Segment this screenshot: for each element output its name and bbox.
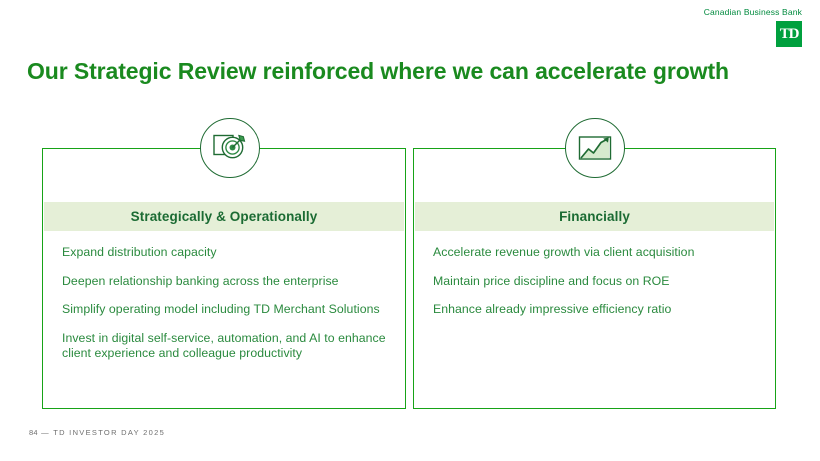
panel-heading-band-financial: Financially [415, 202, 774, 231]
footer-label: TD INVESTOR DAY 2025 [53, 428, 165, 437]
td-logo: TD [776, 21, 802, 47]
growth-chart-icon-glyph [575, 128, 615, 168]
list-item: Accelerate revenue growth via client acq… [433, 245, 761, 261]
growth-chart-icon [565, 118, 625, 178]
target-arrow-icon [200, 118, 260, 178]
panel-heading-band-strategic: Strategically & Operationally [44, 202, 404, 231]
footer-separator: — [41, 428, 50, 437]
panel-financially: Financially Accelerate revenue growth vi… [413, 148, 776, 409]
page-title: Our Strategic Review reinforced where we… [27, 58, 729, 85]
panel-heading-strategic: Strategically & Operationally [131, 209, 318, 224]
footer: 84 — TD INVESTOR DAY 2025 [29, 428, 165, 437]
list-item: Invest in digital self-service, automati… [62, 331, 391, 362]
list-item: Expand distribution capacity [62, 245, 391, 261]
footer-page-number: 84 [29, 428, 38, 437]
list-item: Deepen relationship banking across the e… [62, 274, 391, 290]
td-logo-text: TD [779, 24, 799, 44]
panel-list-financial: Accelerate revenue growth via client acq… [433, 245, 761, 331]
target-arrow-icon-glyph [210, 128, 250, 168]
brand-header: Canadian Business Bank TD [582, 0, 802, 52]
panel-strategically-operationally: Strategically & Operationally Expand dis… [42, 148, 406, 409]
panel-heading-financial: Financially [559, 209, 630, 224]
brand-name: Canadian Business Bank [582, 7, 802, 17]
list-item: Enhance already impressive efficiency ra… [433, 302, 761, 318]
list-item: Maintain price discipline and focus on R… [433, 274, 761, 290]
panel-list-strategic: Expand distribution capacity Deepen rela… [62, 245, 391, 375]
list-item: Simplify operating model including TD Me… [62, 302, 391, 318]
